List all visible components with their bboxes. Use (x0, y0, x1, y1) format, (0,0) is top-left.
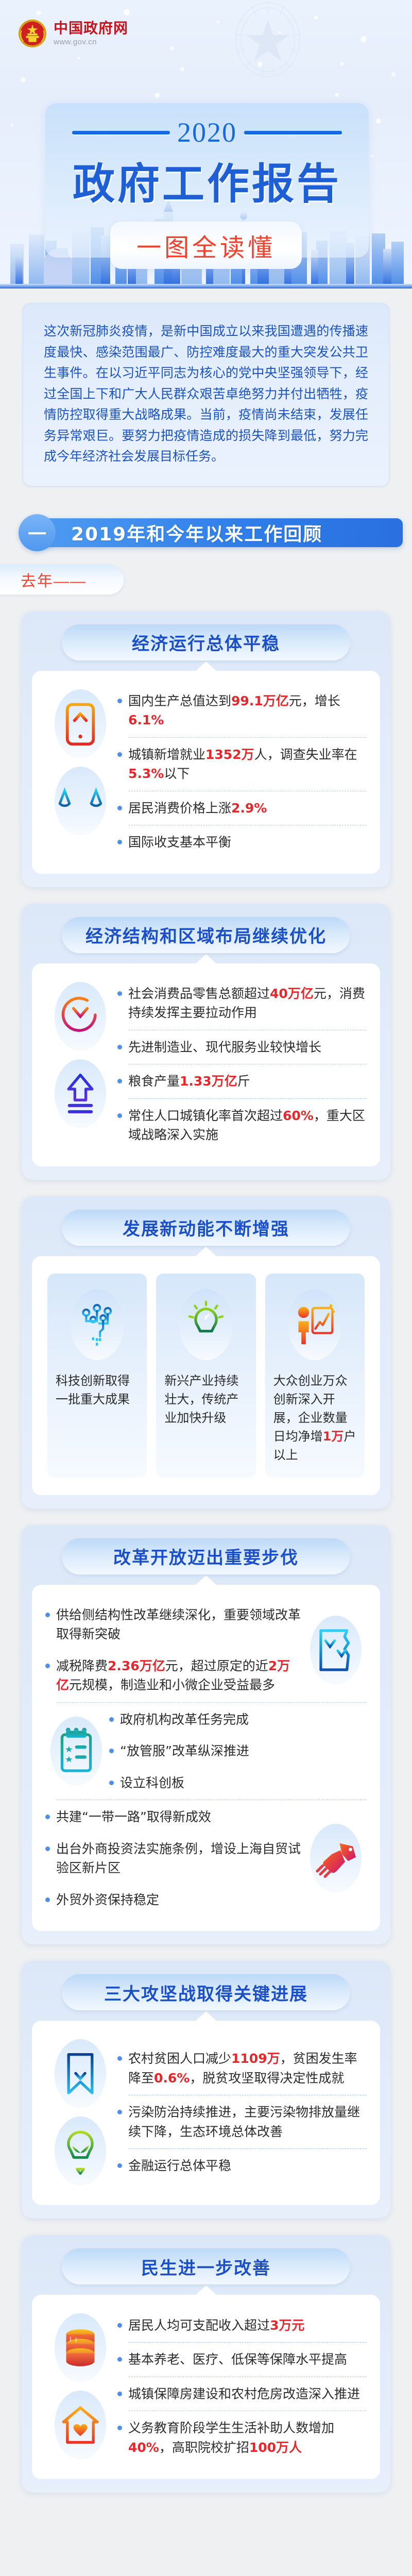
card-body: 国内生产总值达到99.1万亿元，增长6.1%城镇新增就业1352万人，调查失业率… (32, 671, 380, 874)
intro-text: 这次新冠肺炎疫情，是新中国成立以来我国遭遇的传播速度最快、感染范围最广、防控难度… (44, 321, 368, 467)
bullet-dot (109, 1717, 114, 1722)
section-title: 2019年和今年以来工作回顾 (71, 519, 322, 546)
bullet-dot (109, 1781, 114, 1785)
bullet-text: 农村贫困人口减少1109万，贫困发生率降至0.6%，脱贫攻坚取得决定性成就 (128, 2049, 367, 2088)
bullet-text: 供给侧结构性改革继续深化，重要领域改革取得新突破 (56, 1605, 303, 1644)
card-notch (195, 662, 217, 672)
bullet-item: 国际收支基本平衡 (117, 826, 367, 858)
divider (129, 825, 367, 825)
clipboard-list-icon (55, 1725, 97, 1777)
card-notch (195, 2011, 217, 2022)
mixed-row: 共建“一带一路”取得新成效出台外商投资法实施条例，增设上海自贸试验区新片区外贸外… (45, 1801, 367, 1916)
subtitle-pill: 一图全读懂 (110, 222, 302, 269)
divider (129, 2148, 367, 2149)
section-number: 一 (28, 519, 46, 546)
bullet-dot (45, 1897, 50, 1902)
card-title-text: 经济结构和区域布局继续优化 (85, 922, 327, 947)
card-notch (195, 2285, 217, 2296)
cards-container: 经济运行总体平稳 国内生产总值达到99.1万亿元，增长6.1%城镇新增就业135… (0, 611, 412, 2493)
bullet-text: 城镇保障房建设和农村危房改造深入推进 (128, 2384, 360, 2404)
intro-section: 这次新冠肺炎疫情，是新中国成立以来我国遭遇的传播速度最快、感染范围最广、防控难度… (0, 289, 412, 494)
bullet-dot (117, 2357, 122, 2362)
national-emblem-watermark-icon (221, 0, 314, 94)
bullet-list: 农村贫困人口减少1109万，贫困发生率降至0.6%，脱贫攻坚取得决定性成就污染防… (117, 2035, 367, 2190)
bullet-dot (117, 991, 122, 996)
eco-leaf-bulb-icon (59, 2125, 101, 2177)
bullet-list: 供给侧结构性改革继续深化，重要领域改革取得新突破减税降费2.36万亿元，超过原定… (45, 1599, 303, 1701)
bullet-dot (117, 1113, 122, 1118)
bullet-item: 政府机构改革任务完成 (109, 1704, 367, 1736)
icon-slot (49, 978, 111, 1055)
national-emblem-icon (18, 19, 47, 48)
bullet-dot (117, 2163, 122, 2168)
bullet-item: 粮食产量1.33万亿斤 (117, 1065, 367, 1097)
year-tag-label: 去年—— (21, 568, 87, 591)
trio-icon-slot (284, 1286, 346, 1363)
icon-slot (49, 762, 111, 840)
divider (129, 1064, 367, 1064)
bullet-text: 国内生产总值达到99.1万亿元，增长6.1% (128, 691, 367, 730)
bullet-text: 粮食产量1.33万亿斤 (128, 1072, 250, 1091)
report-title: 政府工作报告 (45, 149, 369, 211)
icon-slot (305, 1820, 367, 1897)
bullet-dot (117, 2110, 122, 2114)
content-card: 三大攻坚战取得关键进展 农村贫困人口减少1109万，贫困发生率降至0.6%，脱贫… (22, 1961, 390, 2218)
bullet-list: 政府机构改革任务完成“放管服”改革纵深推进设立科创板 (109, 1704, 367, 1799)
section-number-badge: 一 (19, 514, 56, 551)
divider (57, 1800, 367, 1800)
balance-scale-icon (58, 777, 102, 825)
trio-group: 科技创新取得一批重大成果 新兴产业持续壮大，传统产业加快升级 大众创业万众创新深… (45, 1270, 367, 1480)
bullet-text: 居民消费价格上涨2.9% (128, 799, 267, 818)
bullet-dot (45, 1613, 50, 1617)
trio-text: 大众创业万众创新深入开展，企业数量日均净增1万户以上 (270, 1371, 359, 1464)
bullet-list: 国内生产总值达到99.1万亿元，增长6.1%城镇新增就业1352万人，调查失业率… (117, 685, 367, 858)
icon-column (45, 2035, 115, 2190)
bullet-item: “放管服”改革纵深推进 (109, 1735, 367, 1767)
divider (129, 791, 367, 791)
bullet-text: 社会消费品零售总额超过40万亿元，消费持续发挥主要拉动作用 (128, 984, 367, 1023)
year-line-left (72, 131, 170, 134)
handshake-icon (313, 1836, 359, 1880)
icon-slot (49, 2035, 111, 2112)
bullet-text: 常住人口城镇化率首次超过60%，重大区域战略深入实施 (128, 1106, 367, 1145)
card-title: 民生进一步改善 (62, 2248, 350, 2284)
report-year: 2020 (177, 116, 237, 148)
trio-column: 大众创业万众创新深入开展，企业数量日均净增1万户以上 (265, 1274, 365, 1478)
bullet-text: 出台外商投资法实施条例，增设上海自贸试验区新片区 (56, 1839, 303, 1878)
card-title-text: 经济运行总体平稳 (132, 630, 280, 655)
bullet-item: 居民人均可支配收入超过3万元 (117, 2310, 367, 2342)
bullet-list: 居民人均可支配收入超过3万元基本养老、医疗、低保等保障水平提高城镇保障房建设和农… (117, 2309, 367, 2464)
card-body: 社会消费品零售总额超过40万亿元，消费持续发挥主要拉动作用先进制造业、现代服务业… (32, 963, 380, 1166)
year-tag: 去年—— (0, 565, 124, 595)
mixed-row: 政府机构改革任务完成“放管服”改革纵深推进设立科创板 (45, 1704, 367, 1799)
bookmark-down-icon (61, 2048, 100, 2099)
bullet-dot (45, 1664, 50, 1668)
bullet-item: 减税降费2.36万亿元，超过原定的近2万亿元规模，制造业和小微企业受益最多 (45, 1650, 303, 1701)
card-body: 农村贫困人口减少1109万，贫困发生率降至0.6%，脱贫攻坚取得决定性成就污染防… (32, 2021, 380, 2205)
trio-column: 新兴产业持续壮大，传统产业加快升级 (156, 1274, 255, 1478)
card-notch (195, 954, 217, 964)
home-heart-icon (59, 2401, 102, 2449)
content-card: 民生进一步改善 居民人均可支配收入超过3万元基本养老、医疗、低保等保障水平提高城… (22, 2235, 390, 2493)
bullet-text: 先进制造业、现代服务业较快增长 (128, 1038, 321, 1057)
content-card: 发展新动能不断增强 科技创新取得一批重大成果 新兴产业持续壮大，传统产业加快升级 (22, 1196, 390, 1509)
person-chart-icon (293, 1299, 337, 1350)
bullet-item: 出台外商投资法实施条例，增设上海自贸试验区新片区 (45, 1833, 303, 1884)
bullet-dot (117, 2056, 122, 2061)
bullet-dot (117, 752, 122, 757)
divider (129, 737, 367, 738)
card-body: 科技创新取得一批重大成果 新兴产业持续壮大，传统产业加快升级 大众创业万众创新深… (32, 1256, 380, 1495)
bullet-item: 义务教育阶段学生生活补助人数增加40%，高职院校扩招100万人 (117, 2412, 367, 2463)
divider (129, 2377, 367, 2377)
bullet-dot (117, 2323, 122, 2328)
year-row: 2020 (45, 103, 369, 148)
lightbulb-icon (185, 1299, 227, 1350)
icon-column (45, 978, 115, 1151)
yuan-plus-icon (58, 992, 102, 1041)
icon-column (45, 2309, 115, 2464)
bullet-text: 外贸外资保持稳定 (56, 1890, 159, 1910)
section-title-bar: 2019年和今年以来工作回顾 (42, 518, 403, 547)
trio-icon-slot (175, 1286, 237, 1363)
yuan-down-doc-icon (315, 1624, 357, 1676)
section-header: 2019年和今年以来工作回顾 一 (19, 514, 412, 551)
bullet-text: “放管服”改革纵深推进 (120, 1741, 249, 1761)
bullet-item: 污染防治持续推进，主要污染物排放量继续下降，生态环境总体改善 (117, 2096, 367, 2147)
bullet-dot (117, 2426, 122, 2430)
bullet-dot (45, 1846, 50, 1851)
bullet-dot (109, 1749, 114, 1753)
divider (57, 1702, 367, 1703)
content-card: 改革开放迈出重要步伐 供给侧结构性改革继续深化，重要领域改革取得新突破减税降费2… (22, 1525, 390, 1945)
card-title-text: 民生进一步改善 (141, 2254, 271, 2279)
bullet-text: 金融运行总体平稳 (128, 2156, 231, 2176)
divider (129, 2342, 367, 2343)
bullet-item: 常住人口城镇化率首次超过60%，重大区域战略深入实施 (117, 1100, 367, 1151)
content-card: 经济结构和区域布局继续优化 社会消费品零售总额超过40万亿元，消费持续发挥主要拉… (22, 904, 390, 1180)
card-title: 发展新动能不断增强 (62, 1210, 350, 1246)
divider (129, 1030, 367, 1030)
content-card: 经济运行总体平稳 国内生产总值达到99.1万亿元，增长6.1%城镇新增就业135… (22, 611, 390, 887)
icon-slot (45, 1713, 107, 1790)
card-title: 三大攻坚战取得关键进展 (62, 1974, 350, 2010)
divider (129, 2411, 367, 2411)
bullet-text: 污染防治持续推进，主要污染物排放量继续下降，生态环境总体改善 (128, 2103, 367, 2141)
hero-banner: 中国政府网 www.gov.cn 2020 政府工作报告 一图全读懂 (0, 0, 412, 289)
bullet-item: 供给侧结构性改革继续深化，重要领域改革取得新突破 (45, 1599, 303, 1650)
bullet-text: 居民人均可支配收入超过3万元 (128, 2316, 304, 2335)
bullet-item: 基本养老、医疗、低保等保障水平提高 (117, 2344, 367, 2376)
circuit-tree-icon (76, 1299, 118, 1350)
card-body: 供给侧结构性改革继续深化，重要领域改革取得新突破减税降费2.36万亿元，超过原定… (32, 1585, 380, 1931)
bullet-item: 社会消费品零售总额超过40万亿元，消费持续发挥主要拉动作用 (117, 978, 367, 1029)
bullet-list: 社会消费品零售总额超过40万亿元，消费持续发挥主要拉动作用先进制造业、现代服务业… (117, 978, 367, 1151)
year-line-right (244, 131, 342, 134)
card-title-text: 三大攻坚战取得关键进展 (104, 1980, 308, 2005)
icon-slot (49, 685, 111, 762)
divider (129, 1098, 367, 1099)
bullet-item: 城镇新增就业1352万人，调查失业率在5.3%以下 (117, 739, 367, 790)
bullet-text: 国际收支基本平衡 (128, 833, 231, 852)
card-notch (195, 1575, 217, 1586)
bullet-text: 城镇新增就业1352万人，调查失业率在5.3%以下 (128, 745, 367, 784)
card-title: 经济运行总体平稳 (62, 624, 350, 660)
icon-slot (49, 2112, 111, 2190)
icon-slot (49, 1055, 111, 1132)
bullet-text: 减税降费2.36万亿元，超过原定的近2万亿元规模，制造业和小微企业受益最多 (56, 1656, 303, 1695)
icon-slot (305, 1612, 367, 1689)
trio-icon-slot (66, 1286, 128, 1363)
mixed-row: 供给侧结构性改革继续深化，重要领域改革取得新突破减税降费2.36万亿元，超过原定… (45, 1599, 367, 1701)
card-title: 经济结构和区域布局继续优化 (62, 917, 350, 953)
bullet-text: 义务教育阶段学生生活补助人数增加40%，高职院校扩招100万人 (128, 2418, 367, 2457)
divider (129, 2095, 367, 2095)
icon-column (45, 685, 115, 858)
brand-logo[interactable]: 中国政府网 www.gov.cn (18, 19, 128, 48)
bullet-item: 共建“一带一路”取得新成效 (45, 1801, 303, 1833)
card-title-text: 发展新动能不断增强 (123, 1215, 289, 1240)
bullet-text: 政府机构改革任务完成 (120, 1710, 249, 1730)
card-notch (195, 1247, 217, 1257)
bullet-dot (117, 840, 122, 844)
arrow-up-bar-icon (61, 1069, 100, 1118)
brand-url: www.gov.cn (54, 38, 128, 46)
bullet-item: 城镇保障房建设和农村危房改造深入推进 (117, 2378, 367, 2410)
bullet-item: 外贸外资保持稳定 (45, 1884, 303, 1916)
coin-stack-icon (59, 2324, 102, 2371)
intro-card: 这次新冠肺炎疫情，是新中国成立以来我国遭遇的传播速度最快、感染范围最广、防控难度… (23, 303, 389, 486)
bullet-dot (117, 1045, 122, 1049)
bullet-item: 国内生产总值达到99.1万亿元，增长6.1% (117, 685, 367, 736)
card-body: 居民人均可支配收入超过3万元基本养老、医疗、低保等保障水平提高城镇保障房建设和农… (32, 2295, 380, 2479)
bullet-item: 设立科创板 (109, 1767, 367, 1799)
bullet-text: 共建“一带一路”取得新成效 (56, 1807, 211, 1827)
bullet-text: 设立科创板 (120, 1773, 184, 1793)
bullet-dot (117, 1079, 122, 1083)
bullet-list: 共建“一带一路”取得新成效出台外商投资法实施条例，增设上海自贸试验区新片区外贸外… (45, 1801, 303, 1916)
card-title: 改革开放迈出重要步伐 (62, 1538, 350, 1574)
bullet-item: 农村贫困人口减少1109万，贫困发生率降至0.6%，脱贫攻坚取得决定性成就 (117, 2043, 367, 2094)
card-title-text: 改革开放迈出重要步伐 (113, 1544, 299, 1569)
bullet-item: 先进制造业、现代服务业较快增长 (117, 1031, 367, 1063)
icon-slot (49, 2309, 111, 2386)
bullet-item: 金融运行总体平稳 (117, 2150, 367, 2182)
arrow-up-box-icon (61, 699, 99, 749)
trio-text: 新兴产业持续壮大，传统产业加快升级 (161, 1371, 250, 1427)
trio-text: 科技创新取得一批重大成果 (53, 1371, 142, 1409)
infographic-page: 中国政府网 www.gov.cn 2020 政府工作报告 一图全读懂 (0, 0, 412, 2513)
bullet-dot (117, 699, 122, 703)
icon-slot (49, 2386, 111, 2464)
report-subtitle: 一图全读懂 (136, 227, 276, 263)
bullet-item: 居民消费价格上涨2.9% (117, 792, 367, 824)
bullet-dot (45, 1815, 50, 1819)
bullet-text: 基本养老、医疗、低保等保障水平提高 (128, 2350, 347, 2369)
bullet-dot (117, 2392, 122, 2396)
bullet-dot (117, 806, 122, 810)
brand-name: 中国政府网 (54, 21, 128, 36)
trio-column: 科技创新取得一批重大成果 (47, 1274, 147, 1478)
